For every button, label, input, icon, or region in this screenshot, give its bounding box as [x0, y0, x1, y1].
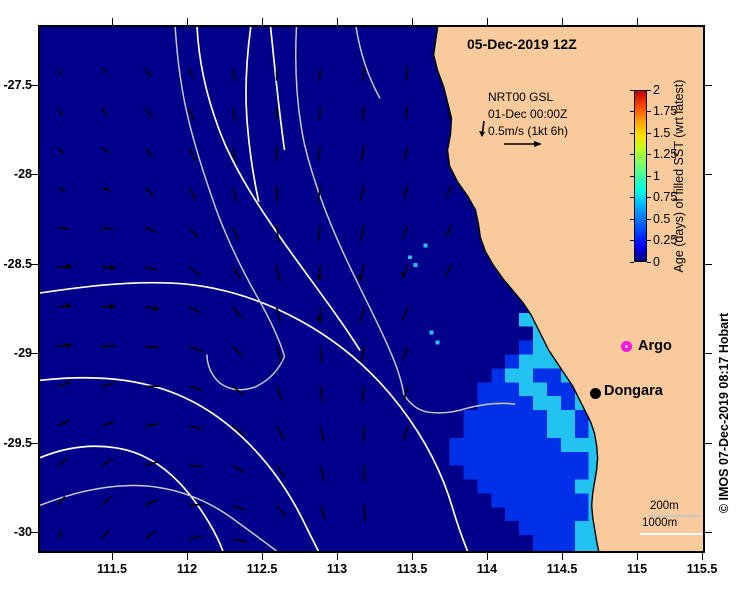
- cb-label-4: 1: [653, 169, 660, 183]
- cb-label-6: 1.5: [653, 126, 670, 140]
- cb-label-8: 2: [653, 83, 660, 97]
- cb-tick-0: [630, 262, 634, 263]
- y-tick-5: [31, 532, 38, 533]
- x-axis-label-0: 111.5: [97, 562, 127, 576]
- cb-tick-3: [630, 197, 634, 198]
- x-tick-8: [702, 553, 703, 560]
- map-figure: 05-Dec-2019 12Z NRT00 GSL 01-Dec 00:00Z …: [0, 0, 739, 592]
- annotation-product: NRT00 GSL: [488, 90, 553, 104]
- y-tick-right-3: [705, 353, 712, 354]
- cb-tick-r-4: [647, 176, 651, 177]
- y-tick-right-4: [705, 443, 712, 444]
- x-tick-top-7: [637, 18, 638, 25]
- x-tick-top-5: [487, 18, 488, 25]
- y-axis-label-1: -28: [14, 167, 32, 181]
- x-tick-top-2: [262, 18, 263, 25]
- cb-tick-r-2: [647, 219, 651, 220]
- cb-tick-r-3: [647, 197, 651, 198]
- sst-age-raster: [40, 27, 703, 551]
- y-tick-right-0: [705, 85, 712, 86]
- cb-tick-6: [630, 133, 634, 134]
- y-tick-right-2: [705, 264, 712, 265]
- x-tick-2: [262, 553, 263, 560]
- x-tick-0: [112, 553, 113, 560]
- x-tick-3: [337, 553, 338, 560]
- x-axis-label-1: 112: [177, 562, 197, 576]
- cb-tick-2: [630, 219, 634, 220]
- copyright-notice: © IMOS 07-Dec-2019 08:17 Hobart: [717, 313, 731, 513]
- cb-label-2: 0.5: [653, 212, 670, 226]
- x-tick-top-1: [187, 18, 188, 25]
- reference-vector-icon: [477, 120, 491, 138]
- y-axis-label-3: -29: [14, 346, 32, 360]
- x-tick-5: [487, 553, 488, 560]
- y-tick-right-5: [705, 532, 712, 533]
- argo-marker-inner: [625, 345, 628, 348]
- annotation-datetime: 01-Dec 00:00Z: [488, 107, 567, 121]
- depth-key-1000m-line: [640, 533, 702, 535]
- y-axis-label-0: -27.5: [4, 78, 33, 92]
- annotation-scale-vector: 0.5m/s (1kt 6h): [488, 124, 568, 138]
- y-axis-label-2: -28.5: [4, 257, 33, 271]
- depth-key-200m-label: 200m: [650, 500, 679, 512]
- x-axis-label-5: 114: [477, 562, 497, 576]
- x-axis-label-2: 112.5: [247, 562, 278, 576]
- dongara-marker-label: Dongara: [604, 383, 663, 399]
- cb-tick-r-1: [647, 240, 651, 241]
- x-axis-label-8: 115.5: [687, 562, 718, 576]
- y-tick-3: [31, 353, 38, 354]
- y-tick-right-1: [705, 174, 712, 175]
- cb-tick-r-5: [647, 154, 651, 155]
- x-tick-4: [412, 553, 413, 560]
- map-title: 05-Dec-2019 12Z: [467, 36, 577, 52]
- dongara-city-marker[interactable]: [590, 388, 601, 399]
- x-tick-top-0: [112, 18, 113, 25]
- cb-tick-r-7: [647, 111, 651, 112]
- cb-tick-r-6: [647, 133, 651, 134]
- cb-tick-8: [630, 90, 634, 91]
- cb-label-0: 0: [653, 255, 660, 269]
- cb-tick-r-8: [647, 90, 651, 91]
- cb-tick-1: [630, 240, 634, 241]
- x-axis-label-3: 113: [327, 562, 347, 576]
- x-tick-1: [187, 553, 188, 560]
- reference-arrow-icon: [502, 138, 544, 150]
- x-tick-top-4: [412, 18, 413, 25]
- cb-tick-7: [630, 111, 634, 112]
- x-tick-top-6: [562, 18, 563, 25]
- x-axis-label-4: 113.5: [397, 562, 428, 576]
- colorbar-title: Age (days) of filled SST (wrt latest): [672, 80, 686, 273]
- argo-station-marker[interactable]: [621, 341, 632, 352]
- x-axis-label-7: 115: [627, 562, 647, 576]
- cb-tick-5: [630, 154, 634, 155]
- y-axis-label-5: -30: [14, 525, 32, 539]
- y-tick-1: [31, 174, 38, 175]
- argo-marker-label: Argo: [638, 338, 672, 354]
- x-tick-6: [562, 553, 563, 560]
- cb-tick-4: [630, 176, 634, 177]
- x-tick-7: [637, 553, 638, 560]
- cb-tick-r-0: [647, 262, 651, 263]
- depth-key-1000m-label: 1000m: [642, 517, 677, 529]
- x-tick-top-3: [337, 18, 338, 25]
- map-plot-area[interactable]: 05-Dec-2019 12Z NRT00 GSL 01-Dec 00:00Z …: [38, 25, 705, 553]
- colorbar: [634, 90, 647, 262]
- y-axis-label-4: -29.5: [4, 436, 33, 450]
- x-axis-label-6: 114.5: [547, 562, 578, 576]
